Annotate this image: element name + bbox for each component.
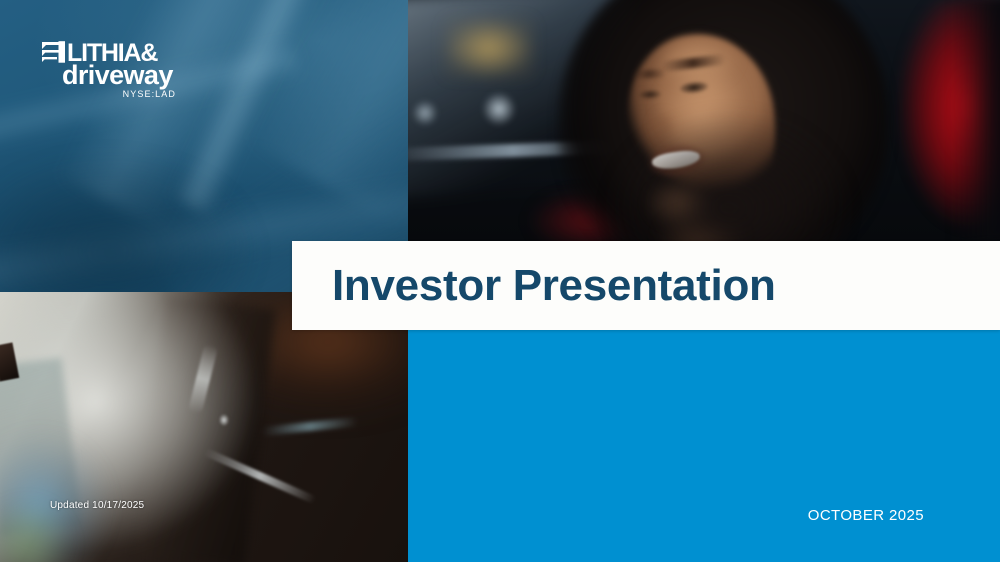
- title-band: Investor Presentation: [292, 241, 1000, 330]
- logo-ticker-symbol: NYSE:LAD: [40, 89, 180, 99]
- updated-stamp: Updated 10/17/2025: [50, 500, 144, 511]
- brand-blue-panel: OCTOBER 2025: [408, 330, 1000, 562]
- background-warm-bokeh: [444, 18, 534, 78]
- background-bokeh-light: [412, 100, 438, 126]
- photo-right-vignette: [950, 0, 1000, 241]
- logo-wordmark-driveway: driveway: [62, 62, 180, 88]
- console-knob-highlight: [219, 414, 229, 426]
- page-title: Investor Presentation: [332, 264, 776, 308]
- bottom-left-photo-panel: [0, 292, 408, 562]
- presentation-date: OCTOBER 2025: [808, 507, 924, 524]
- photo-corner-shadow: [0, 152, 260, 292]
- lithia-driveway-logo: LITHIA& driveway NYSE:LAD: [40, 38, 180, 99]
- top-right-photo-panel: [408, 0, 1000, 241]
- background-bokeh-light: [482, 92, 516, 126]
- investor-presentation-title-slide: LITHIA& driveway NYSE:LAD: [0, 0, 1000, 562]
